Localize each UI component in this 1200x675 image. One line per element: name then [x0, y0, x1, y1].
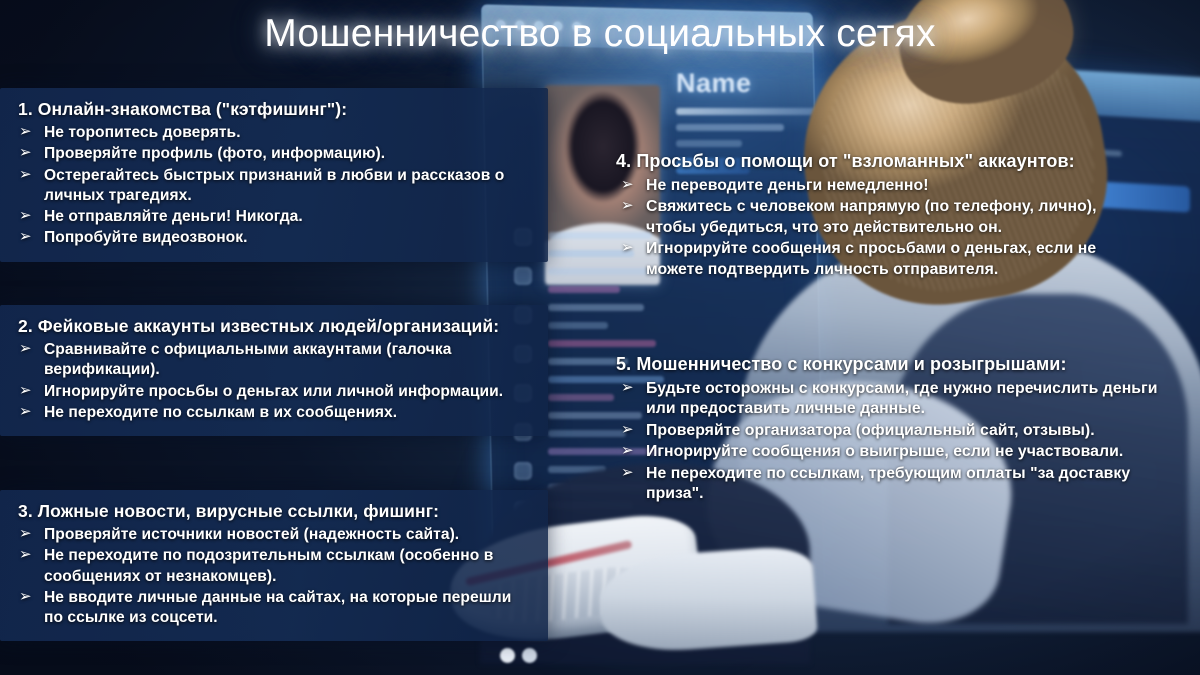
block-heading: 3. Ложные новости, вирусные ссылки, фиши… — [18, 500, 534, 523]
bullet-arrow-icon: ➢ — [621, 238, 634, 258]
bullet-arrow-icon: ➢ — [19, 381, 32, 401]
mock-emoji-row — [500, 648, 537, 663]
list-item-text: Проверяйте профиль (фото, информацию). — [44, 145, 385, 162]
list-item-text: Сравнивайте с официальными аккаунтами (г… — [44, 341, 451, 378]
list-item-text: Будьте осторожны с конкурсами, где нужно… — [646, 380, 1157, 418]
list-item: ➢Проверяйте организатора (официальный са… — [616, 421, 1158, 443]
bullet-arrow-icon: ➢ — [621, 196, 634, 216]
list-item-text: Не торопитесь доверять. — [44, 124, 241, 141]
mock-text-line — [676, 124, 784, 131]
list-item-text: Попробуйте видеозвонок. — [44, 229, 247, 246]
emoji-icon — [522, 648, 537, 663]
list-item: ➢Игнорируйте сообщения о выигрыше, если … — [616, 442, 1158, 464]
list-item: ➢Не переходите по ссылкам, требующим опл… — [616, 464, 1158, 506]
block-heading: 2. Фейковые аккаунты известных людей/орг… — [18, 315, 534, 338]
list-item: ➢Проверяйте профиль (фото, информацию). — [18, 144, 534, 165]
list-item-text: Не переходите по подозрительным ссылкам … — [44, 547, 493, 584]
list-item-text: Не переходите по ссылкам в их сообщениях… — [44, 404, 397, 421]
bullet-arrow-icon: ➢ — [621, 441, 634, 461]
content-block-3: 3. Ложные новости, вирусные ссылки, фиши… — [0, 490, 548, 641]
list-item: ➢Не отправляйте деньги! Никогда. — [18, 207, 534, 228]
list-item: ➢Не переходите по подозрительным ссылкам… — [18, 546, 534, 588]
list-item: ➢Не переходите по ссылкам в их сообщения… — [18, 403, 534, 424]
bullet-arrow-icon: ➢ — [19, 402, 32, 422]
bullet-arrow-icon: ➢ — [19, 122, 32, 142]
bullet-arrow-icon: ➢ — [19, 227, 32, 247]
emoji-icon — [500, 648, 515, 663]
list-item-text: Проверяйте источники новостей (надежност… — [44, 526, 459, 543]
block-heading: 5. Мошенничество с конкурсами и розыгрыш… — [616, 353, 1158, 377]
list-item-text: Остерегайтесь быстрых признаний в любви … — [44, 167, 504, 204]
list-item-text: Не отправляйте деньги! Никогда. — [44, 208, 303, 225]
list-item-text: Игнорируйте сообщения о выигрыше, если н… — [646, 443, 1123, 460]
bullet-arrow-icon: ➢ — [19, 165, 32, 185]
content-block-1: 1. Онлайн-знакомства ("кэтфишинг"): ➢Не … — [0, 88, 548, 262]
block-heading: 1. Онлайн-знакомства ("кэтфишинг"): — [18, 98, 534, 121]
list-item: ➢Не переводите деньги немедленно! — [616, 176, 1150, 198]
bullet-arrow-icon: ➢ — [621, 175, 634, 195]
content-block-2: 2. Фейковые аккаунты известных людей/орг… — [0, 305, 548, 436]
content-block-5: 5. Мошенничество с конкурсами и розыгрыш… — [598, 343, 1172, 518]
list-item-text: Не переводите деньги немедленно! — [646, 177, 929, 194]
bullet-arrow-icon: ➢ — [19, 524, 32, 544]
block-items: ➢Будьте осторожны с конкурсами, где нужн… — [616, 379, 1158, 506]
block-heading: 4. Просьбы о помощи от "взломанных" акка… — [616, 150, 1150, 174]
list-item: ➢Свяжитесь с человеком напрямую (по теле… — [616, 197, 1150, 239]
mock-profile-name: Name — [676, 68, 752, 99]
list-item: ➢Остерегайтесь быстрых признаний в любви… — [18, 166, 534, 208]
list-item-text: Не переходите по ссылкам, требующим опла… — [646, 465, 1130, 503]
content-block-4: 4. Просьбы о помощи от "взломанных" акка… — [598, 140, 1164, 293]
list-item-text: Свяжитесь с человеком напрямую (по телеф… — [646, 198, 1097, 236]
bullet-arrow-icon: ➢ — [621, 378, 634, 398]
list-item: ➢Не торопитесь доверять. — [18, 123, 534, 144]
bullet-arrow-icon: ➢ — [19, 545, 32, 565]
bullet-arrow-icon: ➢ — [19, 339, 32, 359]
list-item-text: Проверяйте организатора (официальный сай… — [646, 422, 1095, 439]
feed-line — [548, 322, 608, 329]
block-items: ➢Проверяйте источники новостей (надежнос… — [18, 525, 534, 629]
page-title: Мошенничество в социальных сетях — [0, 14, 1200, 55]
feed-line — [548, 304, 644, 311]
slide-root: Name — [0, 0, 1200, 675]
list-item: ➢Проверяйте источники новостей (надежнос… — [18, 525, 534, 546]
list-item-text: Не вводите личные данные на сайтах, на к… — [44, 589, 511, 626]
list-item: ➢Сравнивайте с официальными аккаунтами (… — [18, 340, 534, 382]
bullet-arrow-icon: ➢ — [621, 420, 634, 440]
block-items: ➢Не переводите деньги немедленно! ➢Свяжи… — [616, 176, 1150, 282]
list-item: ➢Попробуйте видеозвонок. — [18, 228, 534, 249]
bullet-arrow-icon: ➢ — [19, 143, 32, 163]
block-items: ➢Не торопитесь доверять. ➢Проверяйте про… — [18, 123, 534, 250]
list-item: ➢Игнорируйте просьбы о деньгах или лично… — [18, 382, 534, 403]
rail-icon — [514, 462, 532, 480]
block-items: ➢Сравнивайте с официальными аккаунтами (… — [18, 340, 534, 424]
list-item: ➢Не вводите личные данные на сайтах, на … — [18, 588, 534, 630]
bullet-arrow-icon: ➢ — [621, 463, 634, 483]
list-item-text: Игнорируйте просьбы о деньгах или личной… — [44, 383, 503, 400]
list-item: ➢Будьте осторожны с конкурсами, где нужн… — [616, 379, 1158, 421]
bullet-arrow-icon: ➢ — [19, 587, 32, 607]
bullet-arrow-icon: ➢ — [19, 206, 32, 226]
list-item-text: Игнорируйте сообщения с просьбами о день… — [646, 240, 1096, 278]
rail-icon — [514, 267, 532, 285]
list-item: ➢Игнорируйте сообщения с просьбами о ден… — [616, 239, 1150, 281]
